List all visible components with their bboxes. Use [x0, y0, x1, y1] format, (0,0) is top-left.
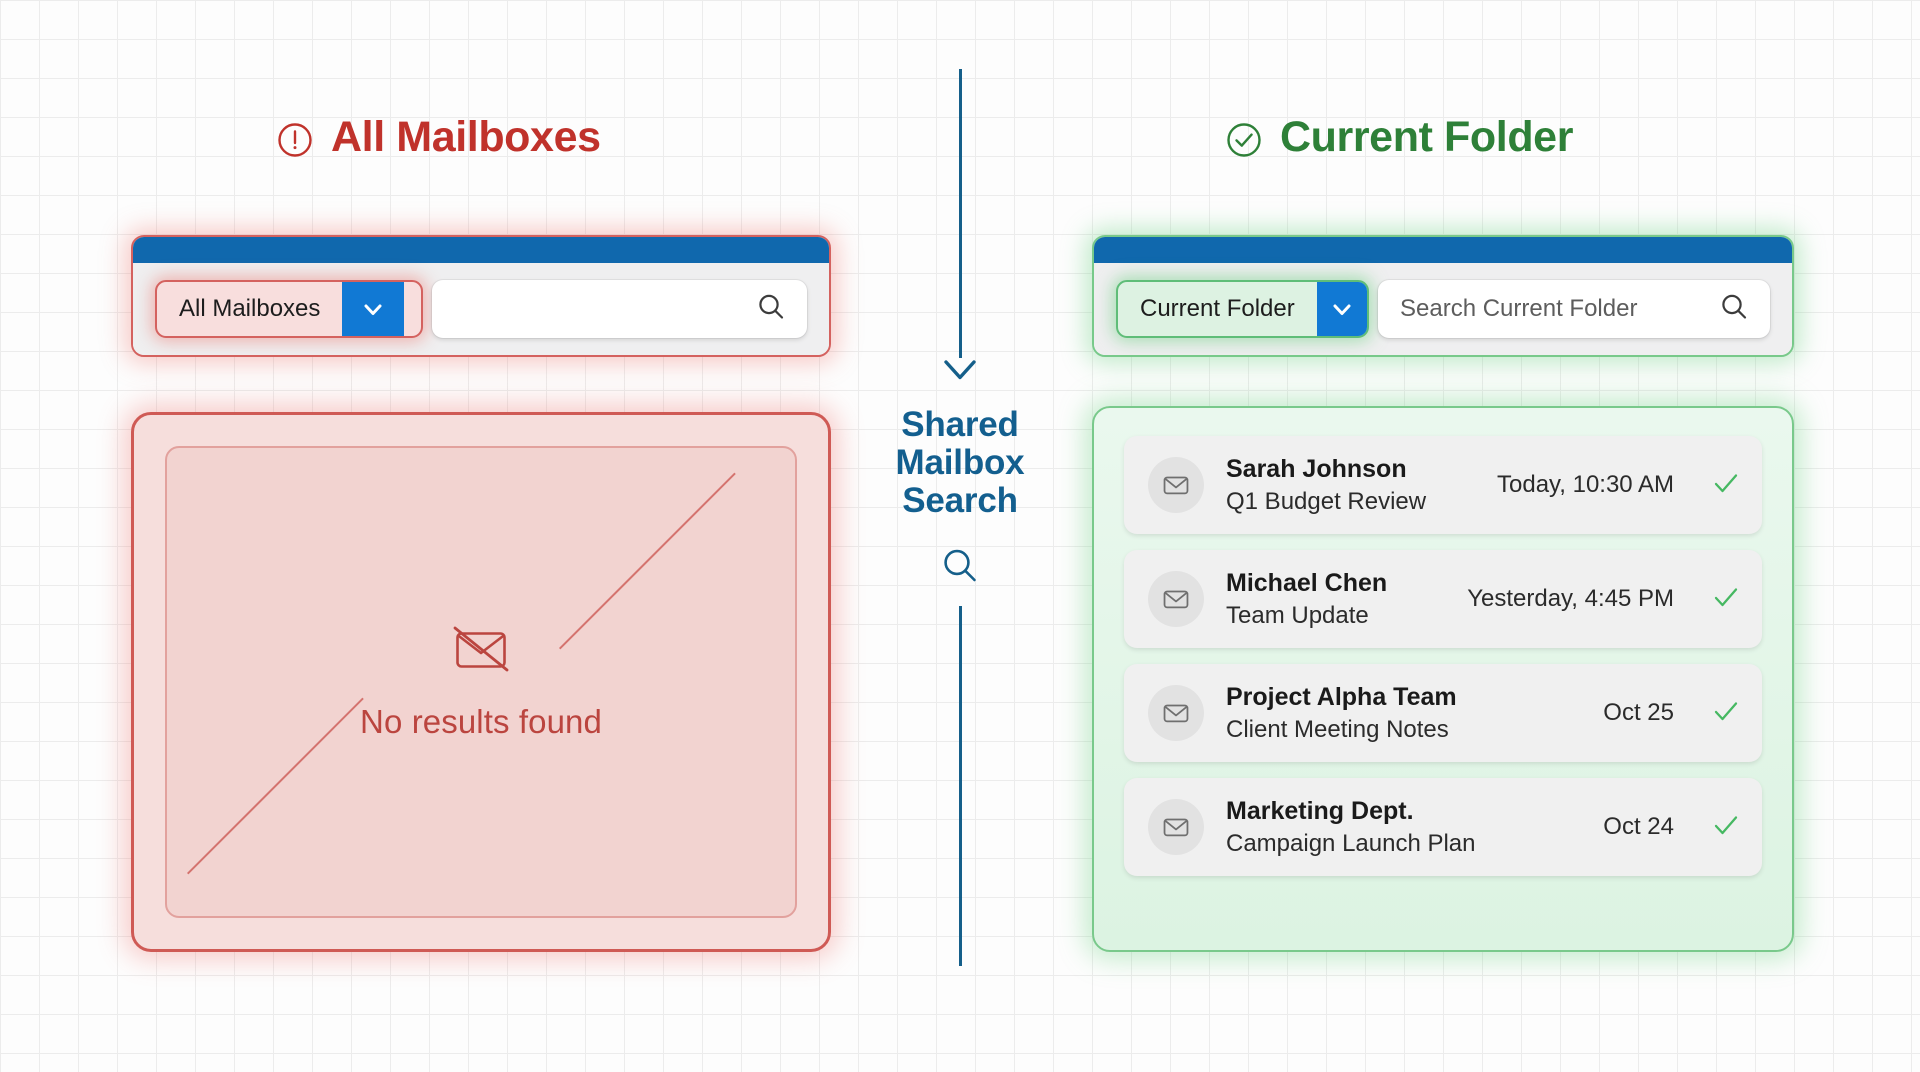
check-icon	[1712, 811, 1740, 844]
result-subject: Q1 Budget Review	[1226, 488, 1475, 516]
envelope-icon	[1161, 698, 1191, 728]
result-row-texts: Project Alpha Team Client Meeting Notes	[1226, 683, 1581, 744]
center-caption: Shared Mailbox Search	[896, 406, 1025, 519]
envelope-icon	[1161, 584, 1191, 614]
check-circle-icon	[1226, 120, 1262, 156]
envelope-icon	[1161, 812, 1191, 842]
right-search-window: Current Folder Search Current Folder	[1092, 235, 1794, 357]
center-caption-line-1: Shared	[896, 406, 1025, 444]
right-window-toolbar: Current Folder Search Current Folder	[1094, 263, 1792, 355]
left-empty-results-inner-panel: No results found	[165, 446, 797, 918]
center-caption-line-3: Search	[896, 482, 1025, 520]
result-row[interactable]: Michael Chen Team Update Yesterday, 4:45…	[1124, 550, 1762, 648]
right-panel-heading: Current Folder	[1226, 113, 1573, 162]
result-subject: Team Update	[1226, 602, 1445, 630]
left-window-titlebar	[133, 237, 829, 263]
left-panel-heading-label: All Mailboxes	[331, 113, 601, 162]
result-timestamp: Oct 25	[1603, 699, 1674, 727]
result-subject: Campaign Launch Plan	[1226, 830, 1581, 858]
result-row-texts: Sarah Johnson Q1 Budget Review	[1226, 455, 1475, 516]
left-search-input[interactable]	[432, 280, 807, 338]
left-empty-state: No results found	[167, 448, 795, 916]
diagram-canvas: All Mailboxes Current Folder All Mailbox…	[0, 0, 1920, 1072]
connector-line-bottom	[959, 606, 962, 966]
connector-line-top	[959, 69, 962, 358]
right-window-titlebar	[1094, 237, 1792, 263]
left-window-toolbar: All Mailboxes	[133, 263, 829, 355]
result-timestamp: Today, 10:30 AM	[1497, 471, 1674, 499]
chevron-down-icon[interactable]	[342, 282, 404, 336]
result-row-texts: Marketing Dept. Campaign Launch Plan	[1226, 797, 1581, 858]
search-icon[interactable]	[755, 291, 787, 328]
left-search-window: All Mailboxes	[131, 235, 831, 357]
check-icon	[1712, 583, 1740, 616]
left-panel-heading: All Mailboxes	[277, 113, 601, 162]
search-icon[interactable]	[1718, 291, 1750, 328]
scope-selector-value: Current Folder	[1118, 282, 1317, 336]
right-panel-heading-label: Current Folder	[1280, 113, 1573, 162]
avatar	[1148, 457, 1204, 513]
right-results-card: Sarah Johnson Q1 Budget Review Today, 10…	[1092, 406, 1794, 952]
scope-selector-all-mailboxes[interactable]: All Mailboxes	[155, 280, 423, 338]
right-search-placeholder: Search Current Folder	[1400, 295, 1718, 323]
right-search-input[interactable]: Search Current Folder	[1378, 280, 1770, 338]
avatar	[1148, 571, 1204, 627]
result-timestamp: Oct 24	[1603, 813, 1674, 841]
exclamation-circle-icon	[277, 120, 313, 156]
avatar	[1148, 799, 1204, 855]
left-empty-results-card: No results found	[131, 412, 831, 952]
result-row[interactable]: Marketing Dept. Campaign Launch Plan Oct…	[1124, 778, 1762, 876]
envelope-icon	[1161, 470, 1191, 500]
result-sender: Project Alpha Team	[1226, 683, 1581, 712]
result-timestamp: Yesterday, 4:45 PM	[1467, 585, 1674, 613]
chevron-down-icon[interactable]	[1317, 282, 1367, 336]
check-icon	[1712, 697, 1740, 730]
result-sender: Michael Chen	[1226, 569, 1445, 598]
search-icon	[939, 545, 981, 592]
result-sender: Marketing Dept.	[1226, 797, 1581, 826]
result-row[interactable]: Sarah Johnson Q1 Budget Review Today, 10…	[1124, 436, 1762, 534]
result-sender: Sarah Johnson	[1226, 455, 1475, 484]
scope-selector-value: All Mailboxes	[157, 282, 342, 336]
result-subject: Client Meeting Notes	[1226, 716, 1581, 744]
center-connector-column: Shared Mailbox Search	[835, 0, 1085, 966]
arrow-down-icon	[940, 357, 980, 388]
center-caption-line-2: Mailbox	[896, 444, 1025, 482]
envelope-slash-icon	[451, 624, 511, 677]
check-icon	[1712, 469, 1740, 502]
avatar	[1148, 685, 1204, 741]
result-row[interactable]: Project Alpha Team Client Meeting Notes …	[1124, 664, 1762, 762]
no-results-message: No results found	[360, 703, 602, 741]
result-row-texts: Michael Chen Team Update	[1226, 569, 1445, 630]
scope-selector-current-folder[interactable]: Current Folder	[1116, 280, 1369, 338]
